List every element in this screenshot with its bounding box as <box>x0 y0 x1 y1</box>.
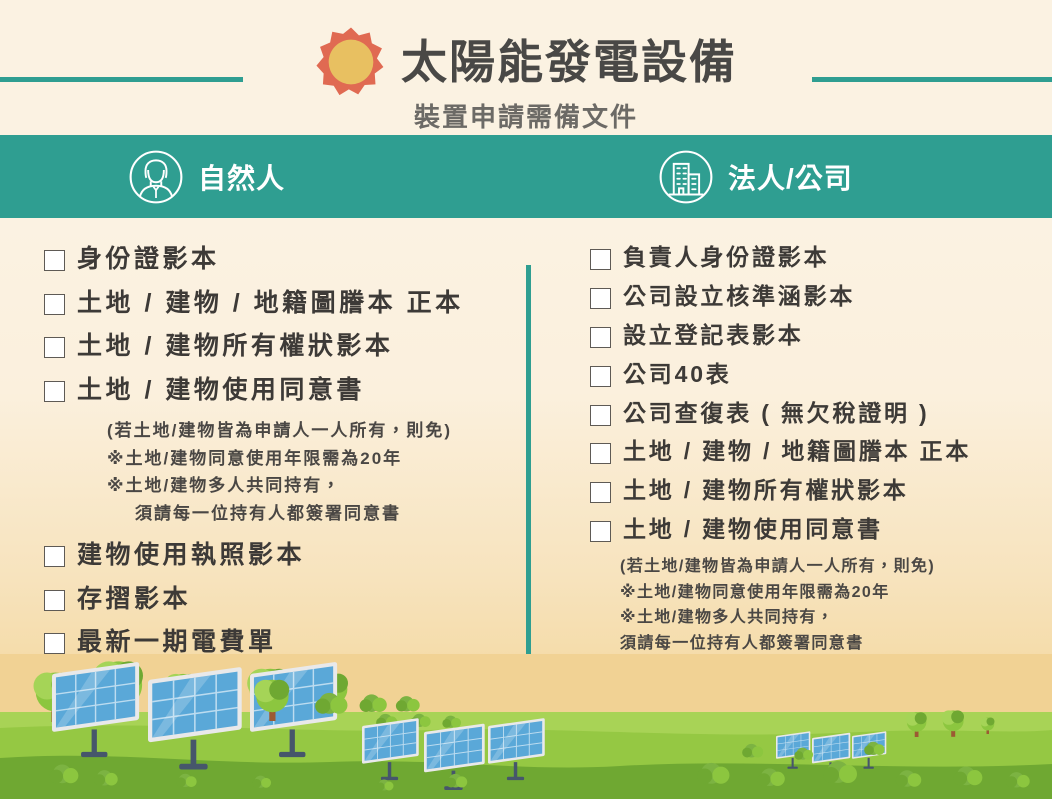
checkbox[interactable] <box>590 327 611 348</box>
note-line: ※土地/建物同意使用年限需為20年 <box>620 580 1040 606</box>
checklist-item-label: 最新一期電費單 <box>77 626 277 659</box>
note-line: 須請每一位持有人都簽署同意書 <box>107 500 514 528</box>
note-line: ※土地/建物多人共同持有， <box>620 605 1040 631</box>
checklist-column-legal-entity: 負責人身份證影本 公司設立核準涵影本 設立登記表影本 公司40表 公司查復表 (… <box>590 218 1040 783</box>
note-line: ※土地/建物同意使用年限需為20年 <box>107 445 514 473</box>
band-label-natural-person: 自然人 <box>198 157 285 197</box>
note-line: (若土地/建物皆為申請人一人所有，則免) <box>107 417 514 445</box>
checklist-item-label: 公司設立核準涵影本 <box>623 282 855 312</box>
checklist-item-label: 負責人身份證影本 <box>623 243 829 273</box>
checklist-item[interactable]: 土地 / 建物 / 地籍圖謄本 正本 <box>44 287 514 320</box>
checklist-item[interactable]: 建物使用執照影本 <box>590 667 1040 697</box>
checklist-item-label: 公司存摺影本 <box>623 705 778 735</box>
note-line: (若土地/建物皆為申請人一人所有，則免) <box>620 554 1040 580</box>
checklist-item[interactable]: 公司查復表 ( 無欠稅證明 ) <box>590 399 1040 429</box>
checklist-item[interactable]: 建物使用執照影本 <box>44 539 514 572</box>
column-divider <box>526 265 531 720</box>
checkbox[interactable] <box>44 546 65 567</box>
checklist-item[interactable]: 最新一期電費單 <box>590 744 1040 774</box>
checkbox[interactable] <box>590 249 611 270</box>
checklist-item-label: 最新一期電費單 <box>623 744 804 774</box>
checkbox[interactable] <box>590 673 611 694</box>
checklist-item[interactable]: 存摺影本 <box>44 583 514 616</box>
checklist-item-label: 土地 / 建物所有權狀影本 <box>623 476 909 506</box>
checklist-item-label: 土地 / 建物使用同意書 <box>623 515 883 545</box>
checkbox[interactable] <box>44 381 65 402</box>
checklist-item[interactable]: 土地 / 建物使用同意書 <box>44 374 514 407</box>
sun-icon <box>315 26 387 98</box>
checkbox[interactable] <box>44 250 65 271</box>
band-column-legal-entity: 法人/公司 <box>658 135 853 218</box>
checklist-item[interactable]: 身份證影本 <box>44 243 514 276</box>
checklist-item-label: 建物使用執照影本 <box>77 539 305 572</box>
checklist-item-label: 存摺影本 <box>77 583 191 616</box>
checklist-column-natural-person: 身份證影本 土地 / 建物 / 地籍圖謄本 正本 土地 / 建物所有權狀影本 土… <box>44 218 514 670</box>
checklist-item[interactable]: 土地 / 建物所有權狀影本 <box>44 330 514 363</box>
checkbox[interactable] <box>590 288 611 309</box>
checkbox[interactable] <box>590 750 611 771</box>
checklist-item-label: 公司40表 <box>623 360 732 390</box>
note-line: ※土地/建物多人共同持有， <box>107 472 514 500</box>
page-subtitle: 裝置申請需備文件 <box>0 97 1052 134</box>
checklist-item-label: 身份證影本 <box>77 243 220 276</box>
checklist-item-label: 土地 / 建物使用同意書 <box>77 374 365 407</box>
checkbox[interactable] <box>44 294 65 315</box>
title-row: 太陽能發電設備 <box>0 26 1052 98</box>
checklist-item[interactable]: 土地 / 建物 / 地籍圖謄本 正本 <box>590 437 1040 467</box>
checkbox[interactable] <box>590 711 611 732</box>
checkbox[interactable] <box>590 405 611 426</box>
page-title: 太陽能發電設備 <box>401 39 737 85</box>
checkbox[interactable] <box>590 366 611 387</box>
checklist-item[interactable]: 土地 / 建物所有權狀影本 <box>590 476 1040 506</box>
checkbox[interactable] <box>44 590 65 611</box>
checklist-item-label: 建物使用執照影本 <box>623 667 829 697</box>
category-band: 自然人 法人/公司 <box>0 135 1052 218</box>
checklist-body: 身份證影本 土地 / 建物 / 地籍圖謄本 正本 土地 / 建物所有權狀影本 土… <box>0 218 1052 799</box>
checklist-item[interactable]: 負責人身份證影本 <box>590 243 1040 273</box>
checklist-item[interactable]: 最新一期電費單 <box>44 626 514 659</box>
checklist-notes: (若土地/建物皆為申請人一人所有，則免) ※土地/建物同意使用年限需為20年 ※… <box>107 417 514 527</box>
band-label-legal-entity: 法人/公司 <box>728 157 853 197</box>
checklist-item[interactable]: 公司存摺影本 <box>590 705 1040 735</box>
checklist-item-label: 土地 / 建物 / 地籍圖謄本 正本 <box>77 287 464 320</box>
checklist-item[interactable]: 設立登記表影本 <box>590 321 1040 351</box>
checklist-item[interactable]: 公司40表 <box>590 360 1040 390</box>
checklist-item-label: 設立登記表影本 <box>623 321 804 351</box>
infographic-poster: 太陽能發電設備 裝置申請需備文件 自然人 <box>0 0 1052 799</box>
checklist-item-label: 公司查復表 ( 無欠稅證明 ) <box>623 399 930 429</box>
title-zone: 太陽能發電設備 裝置申請需備文件 <box>0 0 1052 135</box>
building-circle-icon <box>658 149 714 205</box>
band-column-natural-person: 自然人 <box>128 135 285 218</box>
checkbox[interactable] <box>44 337 65 358</box>
checklist-item-label: 土地 / 建物 / 地籍圖謄本 正本 <box>623 437 971 467</box>
checkbox[interactable] <box>44 633 65 654</box>
checkbox[interactable] <box>590 482 611 503</box>
checkbox[interactable] <box>590 521 611 542</box>
note-line: 須請每一位持有人都簽署同意書 <box>620 631 1040 657</box>
checklist-notes: (若土地/建物皆為申請人一人所有，則免) ※土地/建物同意使用年限需為20年 ※… <box>620 554 1040 656</box>
checklist-item[interactable]: 土地 / 建物使用同意書 <box>590 515 1040 545</box>
person-circle-icon <box>128 149 184 205</box>
checkbox[interactable] <box>590 443 611 464</box>
checklist-item[interactable]: 公司設立核準涵影本 <box>590 282 1040 312</box>
checklist-item-label: 土地 / 建物所有權狀影本 <box>77 330 393 363</box>
